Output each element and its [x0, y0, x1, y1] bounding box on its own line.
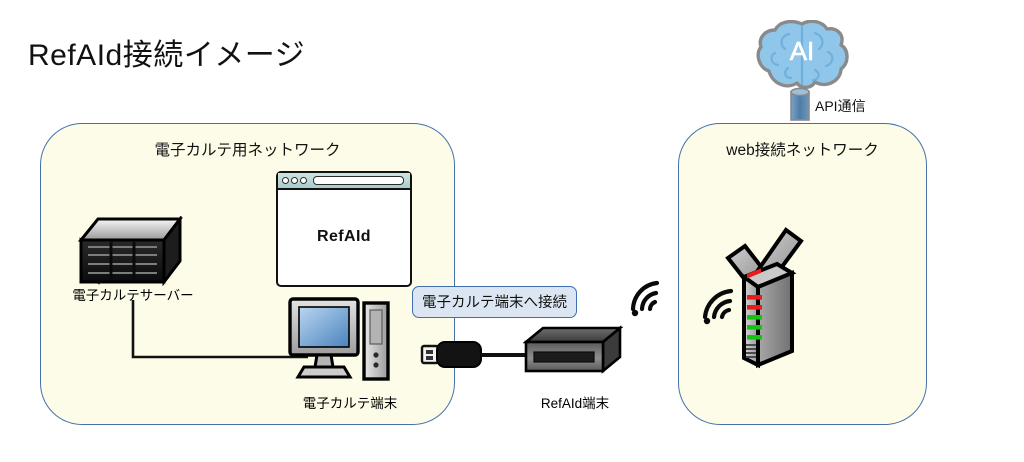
- ehr-network-title: 電子カルテ用ネットワーク: [41, 138, 454, 160]
- api-communication-label: API通信: [815, 96, 866, 116]
- ehr-connect-callout: 電子カルテ端末へ接続: [412, 286, 577, 318]
- wireless-router-icon: [700, 225, 820, 370]
- brain-icon: AI: [755, 20, 849, 92]
- browser-address-bar[interactable]: [313, 176, 404, 185]
- browser-dot-icon: [291, 177, 298, 184]
- server-to-pc-connection-line: [130, 300, 310, 362]
- browser-titlebar: [278, 173, 410, 190]
- pc-label: 電子カルテ端末: [280, 392, 420, 412]
- page-title: RefAId接続イメージ: [28, 30, 305, 74]
- browser-window-icon[interactable]: RefAId: [276, 171, 412, 287]
- wifi-signal-icon: [629, 280, 663, 318]
- browser-dot-icon: [282, 177, 289, 184]
- server-label: 電子カルテサーバー: [58, 284, 208, 304]
- ai-label: AI: [790, 36, 815, 66]
- browser-app-name: RefAId: [317, 228, 371, 246]
- web-network-title: web接続ネットワーク: [679, 138, 926, 160]
- server-icon: [76, 216, 188, 286]
- api-cylinder-icon: [789, 87, 811, 124]
- browser-dot-icon: [300, 177, 307, 184]
- desktop-pc-icon: [286, 295, 396, 387]
- refaid-device-icon: [523, 325, 623, 377]
- refaid-device-label: RefAId端末: [505, 392, 645, 412]
